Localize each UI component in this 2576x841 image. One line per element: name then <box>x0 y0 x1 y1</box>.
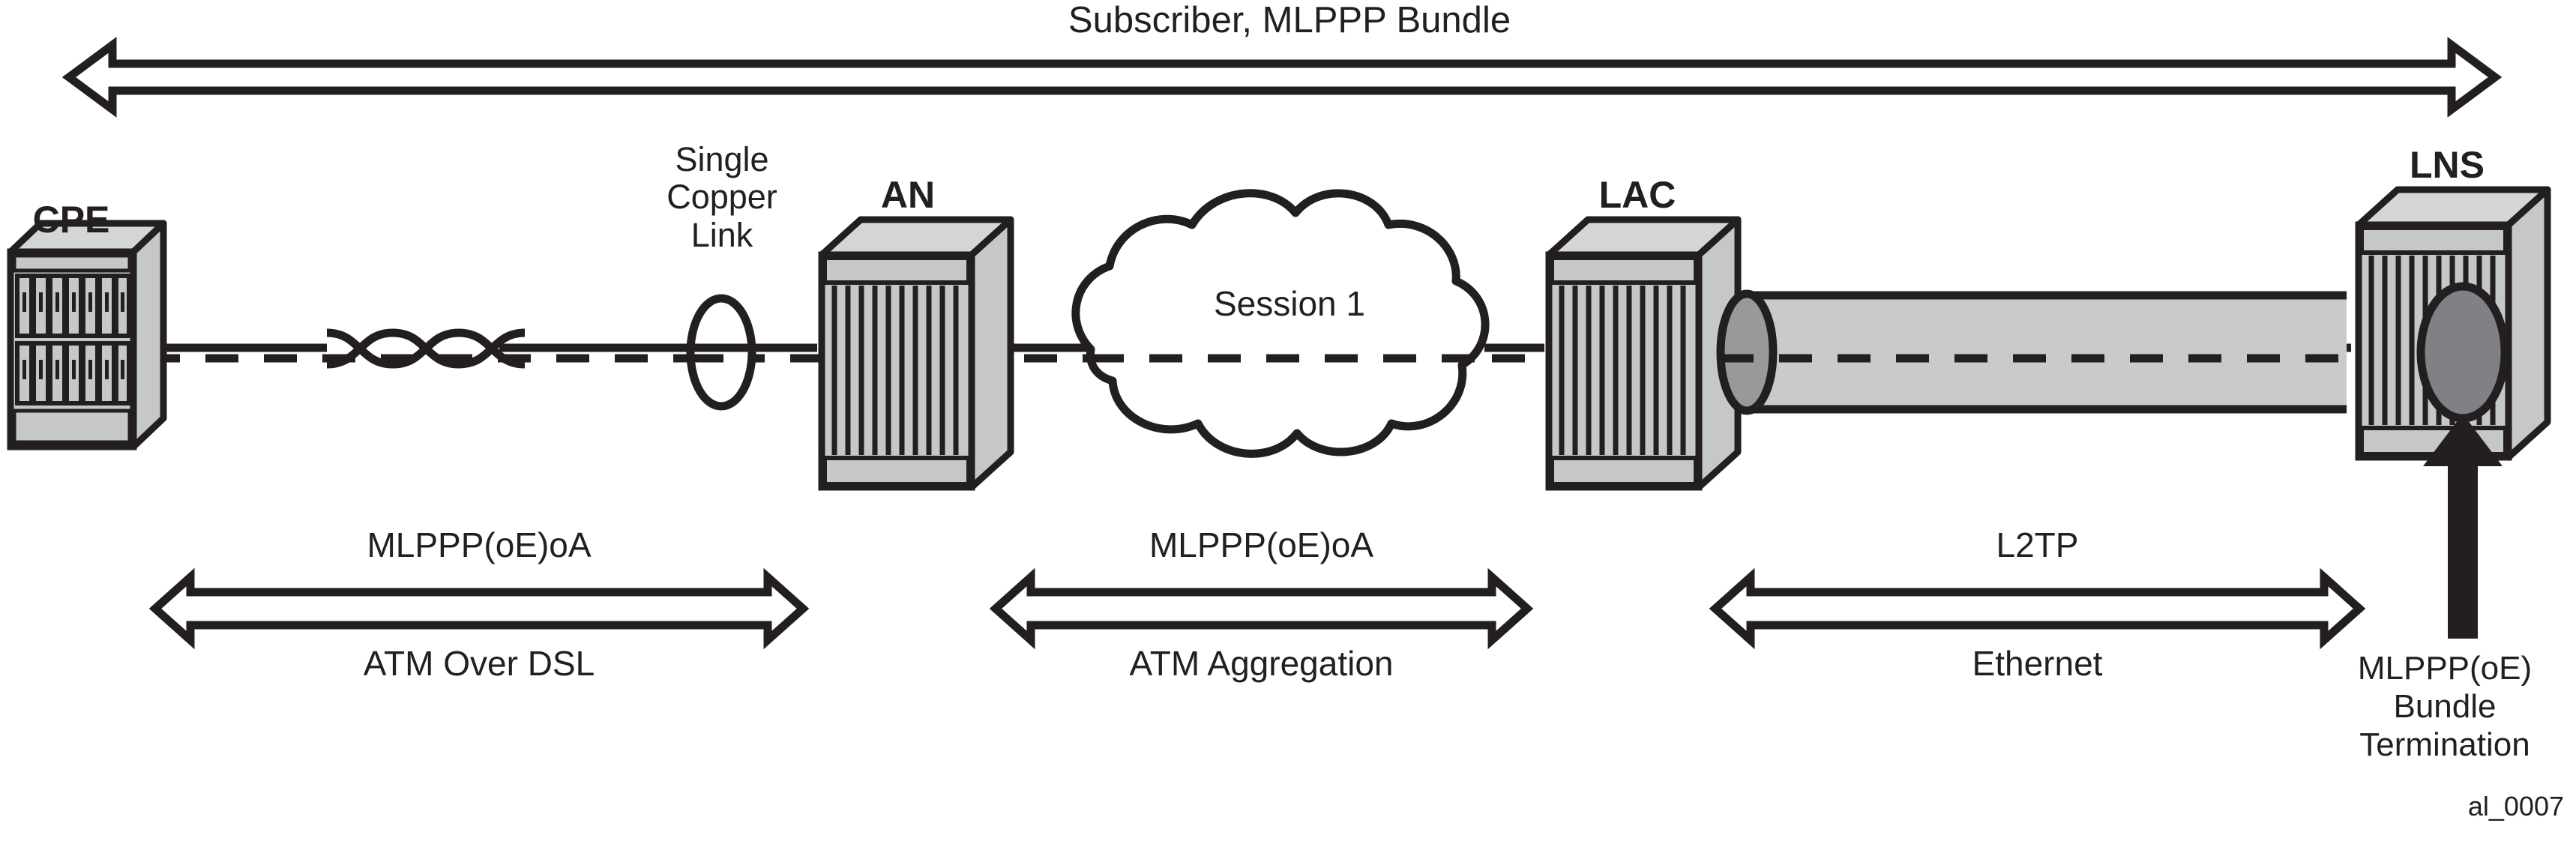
callout-line-1: MLPPP(oE) <box>2358 650 2532 687</box>
callout-line-2: Bundle <box>2393 688 2496 725</box>
diagram-canvas: Subscriber, MLPPP Bundle CPE SingleCoppe… <box>0 0 2576 841</box>
span-aggregation-top-label: MLPPP(oE)oA <box>996 526 1527 565</box>
node-label-cpe: CPE <box>0 199 142 241</box>
span-dsl-bottom-label: ATM Over DSL <box>155 645 803 684</box>
node-label-lac: LAC <box>1541 174 1733 216</box>
span-aggregation-bottom-label: ATM Aggregation <box>996 645 1527 684</box>
twisted-pair-icon <box>327 333 525 364</box>
device-lac[interactable] <box>1549 220 1738 487</box>
copper-line-3: Link <box>691 216 753 254</box>
single-copper-link-label: SingleCopperLink <box>628 141 816 254</box>
node-label-lns: LNS <box>2351 144 2543 186</box>
span-arrow-aggregation <box>996 577 1527 640</box>
bundle-termination-oval <box>2421 286 2505 418</box>
top-span-arrow <box>69 45 2495 109</box>
copper-line-1: Single <box>675 140 768 178</box>
bundle-termination-callout: MLPPP(oE)BundleTermination <box>2314 649 2576 764</box>
figure-id: al_0007 <box>2287 792 2564 822</box>
span-l2tp-bottom-label: Ethernet <box>1715 645 2359 684</box>
top-span-label: Subscriber, MLPPP Bundle <box>855 0 1724 41</box>
device-an[interactable] <box>822 220 1011 487</box>
node-label-an: AN <box>814 174 1002 216</box>
span-arrow-dsl <box>155 577 803 640</box>
atm-cloud <box>1076 193 1488 454</box>
span-arrow-l2tp <box>1715 577 2359 640</box>
span-l2tp-top-label: L2TP <box>1715 526 2359 565</box>
diagram-graphics <box>0 0 2576 841</box>
cloud-label-session: Session 1 <box>1117 285 1462 324</box>
l2tp-tunnel-cylinder <box>1721 294 2347 411</box>
span-dsl-top-label: MLPPP(oE)oA <box>155 526 803 565</box>
device-cpe[interactable] <box>10 223 163 447</box>
copper-line-2: Copper <box>666 178 777 216</box>
callout-line-3: Termination <box>2359 726 2530 763</box>
single-copper-link-oval <box>690 298 752 406</box>
